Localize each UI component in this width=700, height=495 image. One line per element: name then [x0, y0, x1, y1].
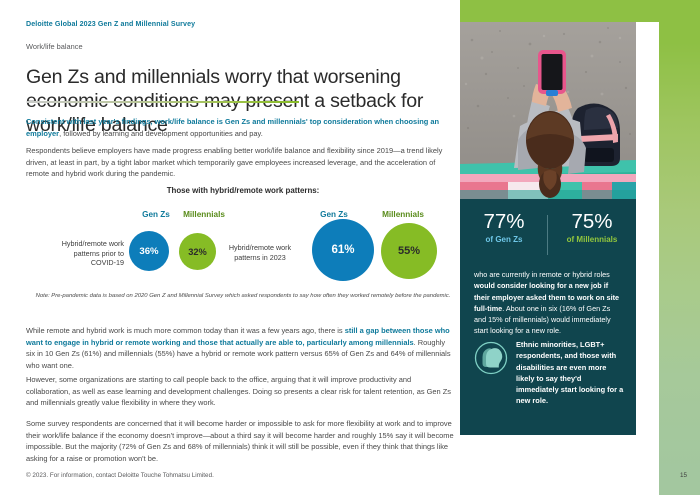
green-edge-strip	[659, 0, 700, 471]
legend-millennials-group2: Millennials	[367, 210, 439, 219]
bubble-millennials-pre-covid: 32%	[179, 233, 216, 270]
document-page: Deloitte Global 2023 Gen Z and Millennia…	[0, 0, 700, 495]
stat-millennials: 75% of Millennials	[552, 211, 632, 244]
sidebar-paragraph-lead: who are currently in remote or hybrid ro…	[474, 270, 610, 279]
stats-row: 77% of Gen Zs 75% of Millennials	[460, 211, 636, 263]
category-label-1-line3: COVID-19	[32, 258, 124, 268]
category-label-2-line1: Hybrid/remote work	[212, 243, 308, 253]
sidebar-callout: Ethnic minorities, LGBT+ respondents, an…	[474, 339, 626, 407]
sidebar-paragraph: who are currently in remote or hybrid ro…	[474, 269, 624, 337]
page-number: 15	[680, 472, 687, 479]
paragraph-5: Some survey respondents are concerned th…	[26, 418, 454, 464]
stats-divider	[547, 215, 548, 255]
two-profiles-icon	[474, 341, 508, 375]
paragraph-3-lead: While remote and hybrid work is much mor…	[26, 326, 345, 335]
paragraph-2: Respondents believe employers have made …	[26, 145, 454, 180]
chart-title: Those with hybrid/remote work patterns:	[26, 186, 460, 195]
report-kicker: Deloitte Global 2023 Gen Z and Millennia…	[26, 20, 195, 28]
category-label-2-line2: patterns in 2023	[212, 253, 308, 263]
paragraph-1-rest: , followed by learning and development o…	[59, 129, 263, 138]
section-eyebrow: Work/life balance	[26, 42, 83, 51]
paragraph-1: Consistent with last year's findings, wo…	[26, 116, 454, 139]
footer-copyright: © 2023. For information, contact Deloitt…	[26, 472, 214, 479]
chart-note: Note: Pre-pandemic data is based on 2020…	[26, 292, 460, 301]
photo-illustration	[460, 22, 636, 199]
paragraph-3: While remote and hybrid work is much mor…	[26, 325, 454, 371]
legend-genz-group2: Gen Zs	[303, 210, 365, 219]
paragraph-4: However, some organizations are starting…	[26, 374, 454, 409]
stats-sidebar-card: 77% of Gen Zs 75% of Millennials who are…	[460, 199, 636, 435]
bubble-millennials-2023: 55%	[381, 223, 437, 279]
category-label-2: Hybrid/remote work patterns in 2023	[212, 243, 308, 262]
hero-photo	[460, 22, 636, 199]
stat-millennials-value: 75%	[552, 211, 632, 233]
title-underline-rule	[27, 101, 299, 103]
stat-genz-caption: of Gen Zs	[464, 235, 544, 244]
stat-millennials-caption: of Millennials	[552, 235, 632, 244]
category-label-1-line2: patterns prior to	[32, 249, 124, 259]
bubble-genz-2023: 61%	[312, 219, 374, 281]
legend-millennials-group1: Millennials	[168, 210, 240, 219]
stat-genz-value: 77%	[464, 211, 544, 233]
sidebar-callout-text: Ethnic minorities, LGBT+ respondents, an…	[516, 339, 626, 407]
category-label-1: Hybrid/remote work patterns prior to COV…	[32, 239, 124, 268]
green-accent-block	[460, 0, 659, 22]
stat-genz: 77% of Gen Zs	[464, 211, 544, 244]
bubble-genz-pre-covid: 36%	[129, 231, 169, 271]
category-label-1-line1: Hybrid/remote work	[32, 239, 124, 249]
